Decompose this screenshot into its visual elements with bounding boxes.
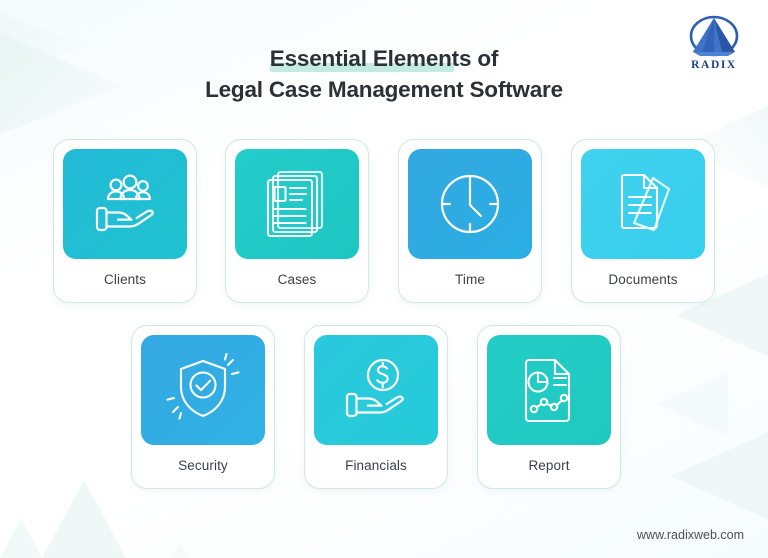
logo-wordmark: RADIX <box>678 59 750 71</box>
card-financials-tile <box>314 335 438 445</box>
card-time[interactable]: Time <box>398 139 542 303</box>
card-clients-label: Clients <box>104 272 146 287</box>
card-documents[interactable]: Documents <box>571 139 715 303</box>
infographic-canvas: RADIX Essential Elements of Legal Case M… <box>0 0 768 558</box>
card-clients[interactable]: Clients <box>53 139 197 303</box>
card-financials-label: Financials <box>345 458 407 473</box>
card-clients-tile <box>63 149 187 259</box>
card-cases[interactable]: Cases <box>225 139 369 303</box>
document-pages-icon <box>606 167 680 241</box>
stacked-documents-icon <box>262 168 332 240</box>
card-time-tile <box>408 149 532 259</box>
card-cases-tile <box>235 149 359 259</box>
report-chart-document-icon <box>513 353 585 427</box>
hand-holding-people-icon <box>86 171 164 237</box>
card-report[interactable]: Report <box>477 325 621 489</box>
card-financials[interactable]: Financials <box>304 325 448 489</box>
footer-website[interactable]: www.radixweb.com <box>637 528 744 542</box>
radix-pyramid-logo-icon <box>678 14 750 60</box>
clock-icon <box>434 168 506 240</box>
elements-grid: Clients <box>0 0 768 558</box>
card-report-tile <box>487 335 611 445</box>
card-security-tile <box>141 335 265 445</box>
card-cases-label: Cases <box>278 272 317 287</box>
card-documents-tile <box>581 149 705 259</box>
shield-check-icon <box>164 353 242 427</box>
brand-logo: RADIX <box>678 14 750 78</box>
card-security[interactable]: Security <box>131 325 275 489</box>
hand-holding-dollar-icon <box>336 356 416 424</box>
card-report-label: Report <box>528 458 569 473</box>
card-documents-label: Documents <box>608 272 677 287</box>
card-time-label: Time <box>455 272 485 287</box>
card-security-label: Security <box>178 458 228 473</box>
